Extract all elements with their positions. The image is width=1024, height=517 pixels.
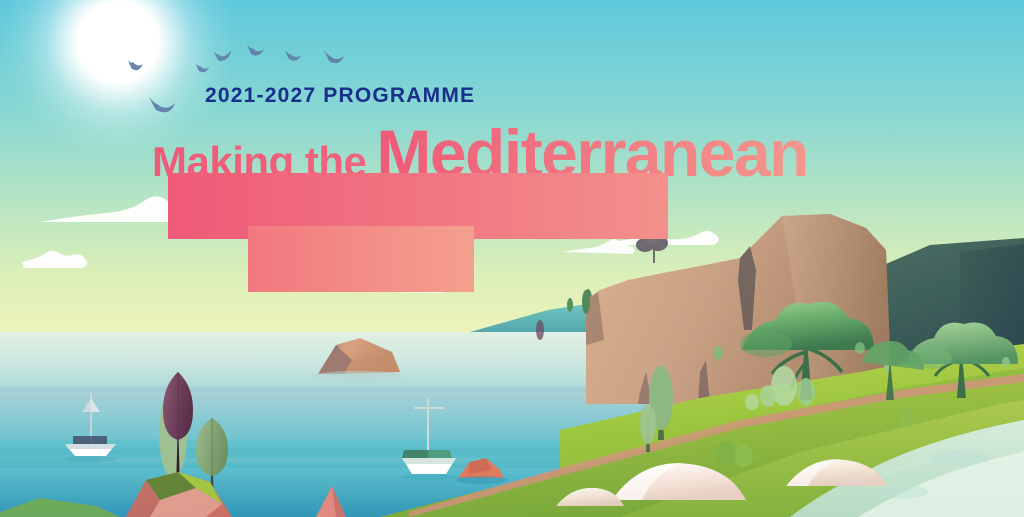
boat-reflection <box>64 456 116 462</box>
foam-blob <box>872 485 928 499</box>
boat-deck-shadow <box>65 444 116 449</box>
cypress-canopy <box>640 404 656 444</box>
island-reflection <box>312 371 404 381</box>
cypress-icon <box>582 290 590 314</box>
rock-reflection <box>455 476 507 484</box>
boat-cabin-shadow <box>402 450 428 458</box>
tree-trunk <box>653 249 655 263</box>
boat-deck-shadow <box>402 458 456 464</box>
tree-canopy <box>644 230 660 244</box>
tree-canopy-highlight <box>740 331 792 357</box>
cypress-icon <box>536 320 544 340</box>
shrub <box>745 394 759 410</box>
landscape-illustration <box>0 0 1024 517</box>
bush <box>716 441 736 467</box>
boat-reflection <box>401 474 457 480</box>
shrub <box>760 385 776 407</box>
tree-leaf-dot <box>1002 357 1010 367</box>
bush <box>735 445 753 467</box>
tree-leaf-dot <box>713 346 723 360</box>
tiny-cypress-icon <box>567 298 573 312</box>
boat-cabin <box>73 436 107 444</box>
sun-disc <box>85 9 151 75</box>
shrub <box>797 378 815 406</box>
tree-leaf-dot <box>855 342 865 354</box>
foam-blob <box>930 451 990 465</box>
hero-banner: 2021-2027 PROGRAMME Making theMediterran… <box>0 0 1024 517</box>
bush <box>898 408 914 428</box>
